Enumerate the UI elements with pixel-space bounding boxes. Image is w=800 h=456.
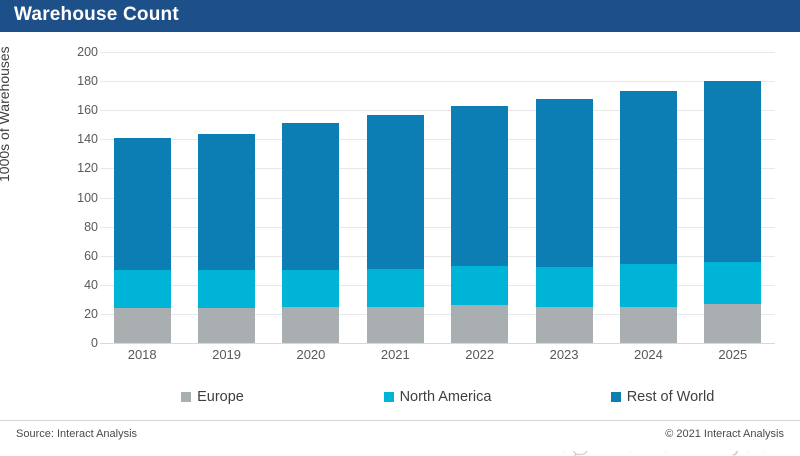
legend-swatch-icon (611, 392, 621, 402)
bar-segment[interactable] (620, 264, 677, 306)
legend-label: Rest of World (627, 389, 715, 405)
y-axis-tick-label: 20 (58, 307, 98, 321)
bar-segment[interactable] (536, 267, 593, 306)
footer: Source: Interact Analysis © 2021 Interac… (0, 420, 800, 451)
bar-segment[interactable] (620, 307, 677, 343)
chart-legend: EuropeNorth AmericaRest of World (100, 384, 775, 410)
bar-segment[interactable] (620, 91, 677, 264)
legend-label: Europe (197, 389, 244, 405)
chart-area: 1000s of Warehouses 20018016014012010080… (0, 32, 800, 420)
stacked-bar[interactable] (282, 123, 339, 343)
bar-slot (522, 52, 606, 343)
bar-segment[interactable] (367, 115, 424, 269)
legend-swatch-icon (181, 392, 191, 402)
x-axis-ticks: 20182019202020212022202320242025 (100, 347, 775, 369)
bar-segment[interactable] (114, 270, 171, 308)
bar-segment[interactable] (282, 123, 339, 270)
bar-segment[interactable] (704, 262, 761, 304)
bar-slot (100, 52, 184, 343)
gridline (100, 343, 775, 344)
bar-segment[interactable] (367, 307, 424, 343)
bar-segment[interactable] (198, 308, 255, 343)
page-title: Warehouse Count (14, 4, 179, 26)
y-axis-tick-label: 60 (58, 249, 98, 263)
bar-segment[interactable] (114, 138, 171, 270)
legend-swatch-icon (384, 392, 394, 402)
y-axis-tick-label: 200 (58, 45, 98, 59)
bar-segment[interactable] (704, 81, 761, 261)
bar-segment[interactable] (367, 269, 424, 307)
bar-segment[interactable] (536, 307, 593, 343)
y-axis-tick-label: 80 (58, 220, 98, 234)
y-axis-tick-label: 0 (58, 336, 98, 350)
stacked-bar[interactable] (114, 138, 171, 343)
legend-item[interactable]: Rest of World (550, 384, 775, 410)
x-axis-tick-label: 2025 (691, 347, 775, 369)
x-axis-tick-label: 2022 (438, 347, 522, 369)
bar-segment[interactable] (282, 307, 339, 343)
x-axis-tick-label: 2020 (269, 347, 353, 369)
bar-segment[interactable] (451, 266, 508, 305)
source-note: Source: Interact Analysis (16, 428, 137, 440)
bar-slot (606, 52, 690, 343)
y-axis-tick-label: 140 (58, 132, 98, 146)
bar-group (100, 52, 775, 343)
chart-screenshot: Warehouse Count 1000s of Warehouses 2001… (0, 0, 800, 450)
bar-slot (353, 52, 437, 343)
legend-item[interactable]: North America (325, 384, 550, 410)
title-bar: Warehouse Count (0, 0, 800, 32)
bar-slot (184, 52, 268, 343)
x-axis-tick-label: 2021 (353, 347, 437, 369)
copyright-note: © 2021 Interact Analysis (665, 428, 784, 440)
bar-segment[interactable] (114, 308, 171, 343)
legend-label: North America (400, 389, 492, 405)
bar-segment[interactable] (198, 134, 255, 271)
bar-segment[interactable] (451, 106, 508, 266)
y-axis-tick-label: 40 (58, 278, 98, 292)
bar-segment[interactable] (536, 99, 593, 268)
bar-segment[interactable] (451, 305, 508, 343)
y-axis-tick-label: 160 (58, 103, 98, 117)
y-axis-tick-label: 180 (58, 74, 98, 88)
y-axis-ticks: 200180160140120100806040200 (58, 52, 98, 343)
y-axis-title: 1000s of Warehouses (0, 46, 12, 182)
bar-slot (269, 52, 353, 343)
y-axis-tick-label: 120 (58, 161, 98, 175)
x-axis-tick-label: 2019 (184, 347, 268, 369)
y-axis-tick-label: 100 (58, 191, 98, 205)
stacked-bar[interactable] (704, 81, 761, 343)
stacked-bar[interactable] (451, 106, 508, 343)
stacked-bar[interactable] (536, 99, 593, 343)
stacked-bar[interactable] (198, 134, 255, 344)
x-axis-tick-label: 2018 (100, 347, 184, 369)
stacked-bar[interactable] (367, 115, 424, 343)
x-axis-tick-label: 2023 (522, 347, 606, 369)
stacked-bar[interactable] (620, 91, 677, 343)
bar-slot (438, 52, 522, 343)
bar-segment[interactable] (282, 270, 339, 306)
bar-segment[interactable] (704, 304, 761, 343)
plot-area (100, 52, 775, 343)
x-axis-tick-label: 2024 (606, 347, 690, 369)
legend-item[interactable]: Europe (100, 384, 325, 410)
bar-slot (691, 52, 775, 343)
bar-segment[interactable] (198, 270, 255, 308)
